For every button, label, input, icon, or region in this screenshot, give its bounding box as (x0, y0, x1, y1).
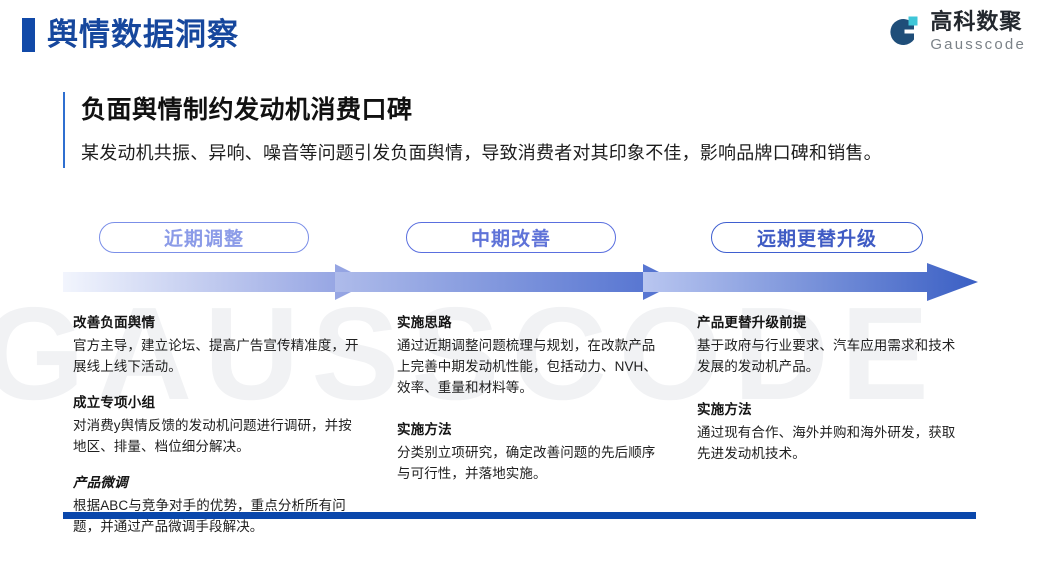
page-header: 舆情数据洞察 高科数聚 Gausscode (0, 0, 1050, 72)
block-body: 基于政府与行业要求、汽车应用需求和技术发展的发动机产品。 (697, 335, 967, 377)
block-heading: 实施方法 (697, 399, 967, 421)
block-heading: 产品更替升级前提 (697, 312, 967, 334)
block-body: 官方主导，建立论坛、提高广告宣传精准度，开展线上线下活动。 (73, 335, 363, 377)
block-body: 通过近期调整问题梳理与规划，在改款产品上完善中期发动机性能，包括动力、NVH、效… (397, 335, 667, 398)
block-heading: 产品微调 (73, 472, 363, 494)
column-near-term: 改善负面舆情 官方主导，建立论坛、提高广告宣传精准度，开展线上线下活动。 成立专… (73, 312, 363, 537)
text-block: 成立专项小组 对消费y舆情反馈的发动机问题进行调研，并按地区、排量、档位细分解决… (73, 392, 363, 457)
brand-name-en: Gausscode (930, 37, 1026, 52)
progress-arrow (63, 262, 978, 302)
footer-rule (63, 512, 976, 519)
gausscode-logo-mark-icon (883, 13, 921, 51)
header-accent-bar (22, 18, 35, 52)
summary-subheading: 某发动机共振、异响、噪音等问题引发负面舆情，导致消费者对其印象不佳，影响品牌口碑… (81, 138, 993, 168)
summary-heading: 负面舆情制约发动机消费口碑 (81, 92, 993, 128)
text-block: 实施思路 通过近期调整问题梳理与规划，在改款产品上完善中期发动机性能，包括动力、… (397, 312, 667, 398)
text-block: 产品更替升级前提 基于政府与行业要求、汽车应用需求和技术发展的发动机产品。 (697, 312, 967, 377)
block-heading: 改善负面舆情 (73, 312, 363, 334)
block-heading: 成立专项小组 (73, 392, 363, 414)
brand-logo-text: 高科数聚 Gausscode (930, 11, 1026, 52)
brand-logo: 高科数聚 Gausscode (883, 11, 1026, 52)
stage-pill-near-term[interactable]: 近期调整 (99, 222, 309, 253)
column-long-term: 产品更替升级前提 基于政府与行业要求、汽车应用需求和技术发展的发动机产品。 实施… (697, 312, 967, 464)
brand-name-cn: 高科数聚 (930, 11, 1026, 33)
page-title: 舆情数据洞察 (47, 14, 239, 56)
stage-pill-mid-term[interactable]: 中期改善 (406, 222, 616, 253)
block-body: 对消费y舆情反馈的发动机问题进行调研，并按地区、排量、档位细分解决。 (73, 415, 363, 457)
block-body: 通过现有合作、海外并购和海外研发，获取先进发动机技术。 (697, 422, 967, 464)
stage-pill-long-term[interactable]: 远期更替升级 (711, 222, 923, 253)
summary-block: 负面舆情制约发动机消费口碑 某发动机共振、异响、噪音等问题引发负面舆情，导致消费… (63, 92, 993, 168)
block-body: 分类别立项研究，确定改善问题的先后顺序与可行性，并落地实施。 (397, 442, 667, 484)
text-block: 改善负面舆情 官方主导，建立论坛、提高广告宣传精准度，开展线上线下活动。 (73, 312, 363, 377)
block-heading: 实施方法 (397, 419, 667, 441)
text-block: 产品微调 根据ABC与竞争对手的优势，重点分析所有问题，并通过产品微调手段解决。 (73, 472, 363, 537)
text-block: 实施方法 分类别立项研究，确定改善问题的先后顺序与可行性，并落地实施。 (397, 419, 667, 484)
column-mid-term: 实施思路 通过近期调整问题梳理与规划，在改款产品上完善中期发动机性能，包括动力、… (397, 312, 667, 484)
block-heading: 实施思路 (397, 312, 667, 334)
text-block: 实施方法 通过现有合作、海外并购和海外研发，获取先进发动机技术。 (697, 399, 967, 464)
